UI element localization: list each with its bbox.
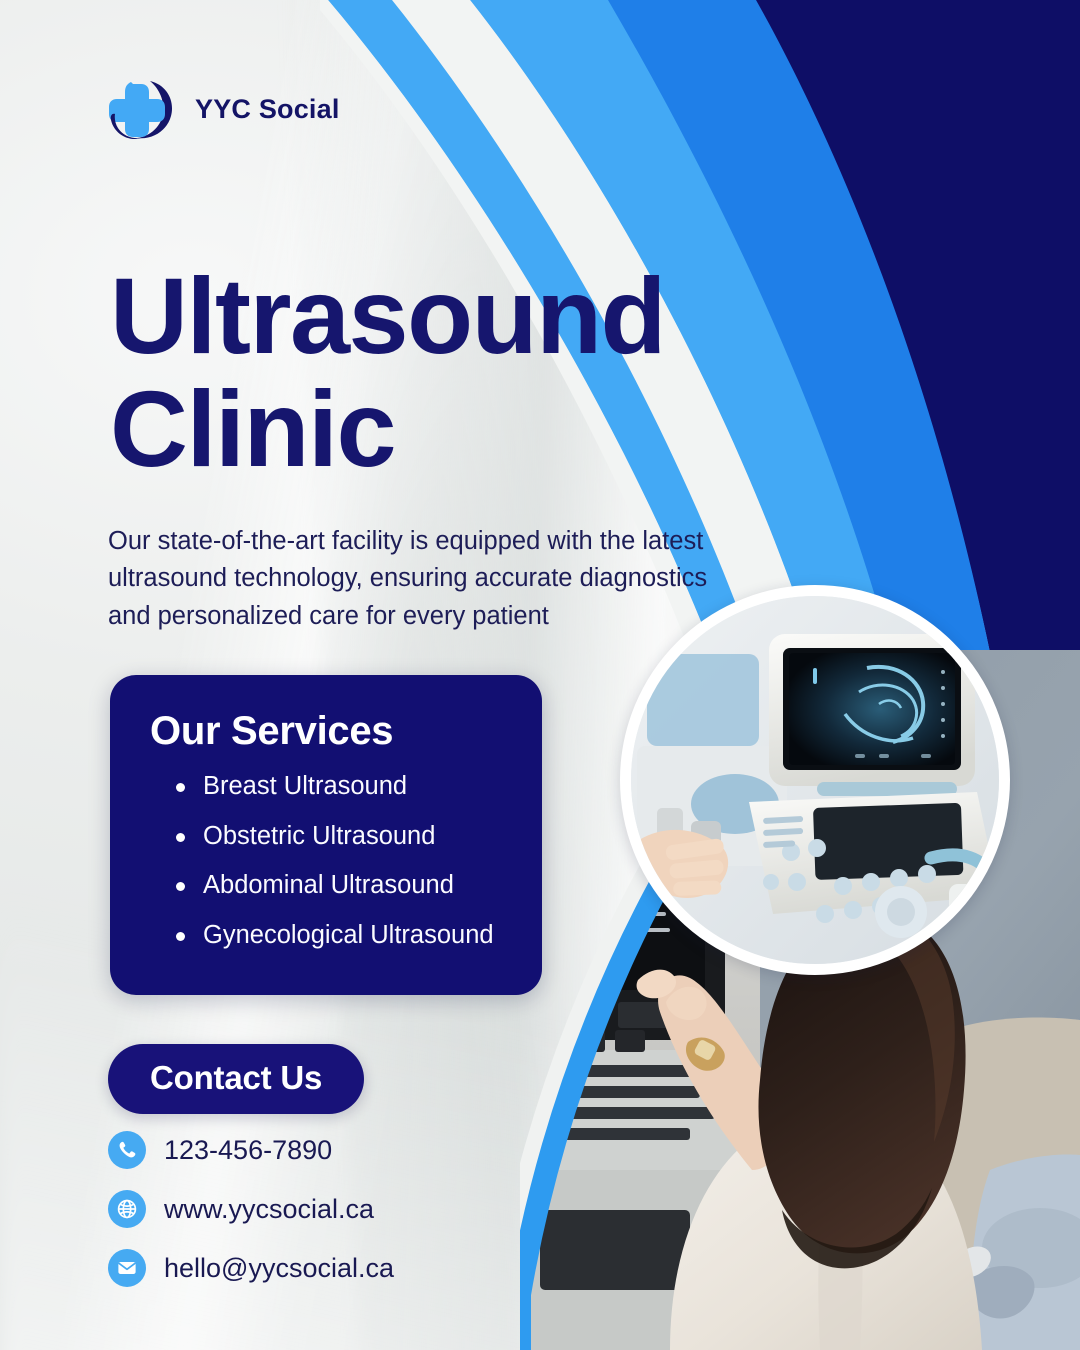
service-item: Abdominal Ultrasound xyxy=(170,873,512,899)
services-card: Our Services Breast Ultrasound Obstetric… xyxy=(110,675,542,995)
page-title-line-2: Clinic xyxy=(110,373,770,485)
globe-icon xyxy=(108,1190,146,1228)
contact-item-email[interactable]: hello@yycsocial.ca xyxy=(108,1249,394,1287)
contact-website-value: www.yycsocial.ca xyxy=(164,1194,374,1225)
service-item: Obstetric Ultrasound xyxy=(170,824,512,850)
page-title-line-1: Ultrasound xyxy=(110,255,665,376)
contact-email-value: hello@yycsocial.ca xyxy=(164,1253,394,1284)
contact-item-website[interactable]: www.yycsocial.ca xyxy=(108,1190,394,1228)
services-list: Breast Ultrasound Obstetric Ultrasound A… xyxy=(150,774,512,948)
envelope-icon xyxy=(108,1249,146,1287)
poster-canvas: YYC Social Ultrasound Clinic Our state-o… xyxy=(0,0,1080,1350)
page-title: Ultrasound Clinic xyxy=(110,260,770,485)
ultrasound-machine-art xyxy=(631,596,999,964)
brand-logo[interactable]: YYC Social xyxy=(103,72,340,146)
contact-us-button[interactable]: Contact Us xyxy=(108,1044,364,1114)
services-title: Our Services xyxy=(150,709,512,754)
service-item: Gynecological Ultrasound xyxy=(170,923,512,949)
contact-item-phone[interactable]: 123-456-7890 xyxy=(108,1131,394,1169)
medical-cross-swoosh-icon xyxy=(103,72,177,146)
intro-paragraph: Our state-of-the-art facility is equippe… xyxy=(108,523,748,636)
brand-name: YYC Social xyxy=(195,94,340,125)
service-item: Breast Ultrasound xyxy=(170,774,512,800)
contact-phone-value: 123-456-7890 xyxy=(164,1135,332,1166)
ultrasound-machine-photo-circle xyxy=(620,585,1010,975)
contact-details-list: 123-456-7890 www.yycsocial.ca xyxy=(108,1131,394,1287)
phone-icon xyxy=(108,1131,146,1169)
